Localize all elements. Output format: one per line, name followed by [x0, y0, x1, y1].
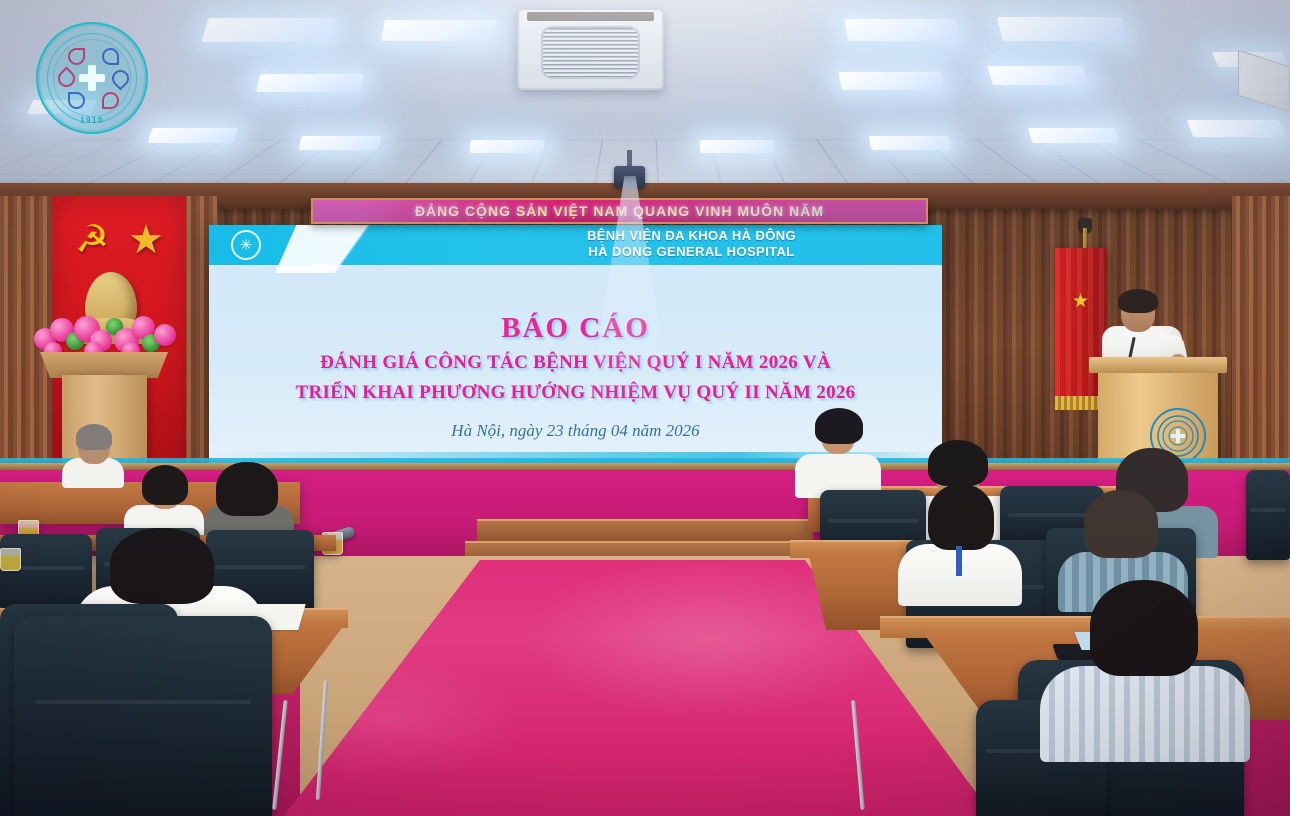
ceiling: [0, 0, 1290, 205]
slide-header-line1: BỆNH VIỆN ĐA KHOA HÀ ĐÔNG: [459, 228, 924, 244]
hammer-sickle-emblem: ☭: [70, 222, 114, 258]
banner-text: ĐẢNG CỘNG SẢN VIỆT NAM QUANG VINH MUÔN N…: [415, 203, 824, 219]
person-hair: [142, 465, 188, 505]
audience-person: [1040, 580, 1250, 760]
slide-subtitle: ĐÁNH GIÁ CÔNG TÁC BỆNH VIỆN QUÝ I NĂM 20…: [223, 348, 928, 408]
audience-person: [898, 484, 1022, 600]
person-hair: [1084, 490, 1158, 558]
audience-person: [795, 408, 881, 494]
audience-person: [62, 424, 124, 484]
slide-header-line2: HÀ DONG GENERAL HOSPITAL: [459, 244, 924, 260]
logo-petal: [102, 92, 119, 109]
person-hair: [216, 462, 278, 516]
ceiling-light-wash: [0, 0, 1290, 205]
podium-lectern-top: [1089, 357, 1227, 373]
person-torso: [1040, 666, 1250, 762]
hospital-logo-watermark: 1910: [36, 22, 148, 134]
audience-chair: [1246, 470, 1290, 560]
person-hair: [110, 528, 214, 604]
slide-header-text: BỆNH VIỆN ĐA KHOA HÀ ĐÔNG HÀ DONG GENERA…: [459, 228, 924, 260]
logo-year: 1910: [38, 116, 146, 125]
speaker-hair: [1118, 289, 1158, 313]
logo-petal: [102, 48, 119, 65]
person-hair: [815, 408, 863, 444]
lanyard: [956, 546, 962, 576]
party-slogan-banner: ĐẢNG CỘNG SẢN VIỆT NAM QUANG VINH MUÔN N…: [311, 198, 928, 224]
person-hair: [76, 424, 112, 450]
audience-chair: [14, 616, 272, 816]
gold-star-emblem: ★: [126, 221, 166, 259]
ceiling-projector: [614, 166, 645, 188]
audience-person: [204, 462, 294, 534]
stage-step: [477, 519, 813, 541]
flag-star-icon: ★: [1072, 290, 1089, 313]
person-hair: [928, 440, 988, 486]
person-hair: [928, 484, 994, 550]
audience-person: [124, 465, 204, 535]
slide-subtitle-line2: TRIỂN KHAI PHƯƠNG HƯỚNG NHIỆM VỤ QUÝ II …: [223, 378, 928, 408]
logo-petal: [68, 48, 85, 65]
slide-hospital-logo-icon: ✳: [231, 230, 261, 260]
medical-cross-icon: [79, 65, 105, 91]
slide-title: BÁO CÁO: [209, 312, 942, 345]
tea-glass: [0, 548, 21, 571]
conference-hall-photo: ☭ ★ ✳ BỆNH VIỆN ĐA KHOA HÀ ĐÔNG HÀ DONG …: [0, 0, 1290, 816]
person-hair: [1090, 580, 1198, 676]
slide-subtitle-line1: ĐÁNH GIÁ CÔNG TÁC BỆNH VIỆN QUÝ I NĂM 20…: [223, 348, 928, 378]
logo-petal: [68, 92, 85, 109]
